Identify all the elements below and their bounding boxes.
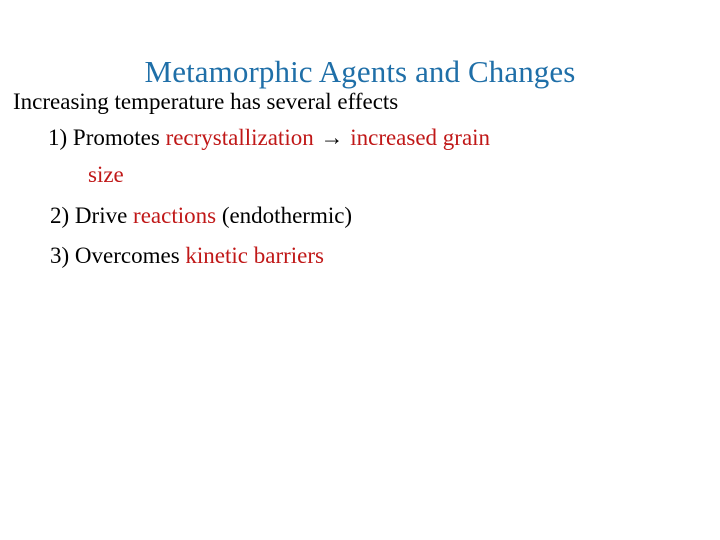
lead-statement: Increasing temperature has several effec…	[13, 88, 713, 116]
list-item: 2) Drive reactions (endothermic)	[13, 197, 713, 235]
list-item: 3) Overcomes kinetic barriers	[13, 237, 713, 275]
slide-body: Increasing temperature has several effec…	[13, 88, 713, 275]
list-item-segment-text: Promotes	[73, 125, 166, 150]
list-item-segment-text: Drive	[75, 203, 133, 228]
list-item-line-wrapped: size	[13, 156, 713, 193]
list-item-marker: 3)	[50, 243, 69, 268]
list-item-segment-text: Overcomes	[75, 243, 186, 268]
list-item-line-primary: 1) Promotes recrystallization → increase…	[13, 119, 713, 156]
list-item-marker: 2)	[50, 203, 69, 228]
effects-list: 1) Promotes recrystallization → increase…	[13, 119, 713, 275]
list-item: 1) Promotes recrystallization → increase…	[13, 119, 713, 193]
page-title: Metamorphic Agents and Changes	[0, 55, 720, 88]
list-item-segment-emphasis: increased grain	[350, 125, 490, 150]
list-item-marker: 1)	[48, 125, 67, 150]
slide-canvas: Metamorphic Agents and Changes Increasin…	[0, 0, 720, 540]
list-item-segment-emphasis: recrystallization	[166, 125, 314, 150]
list-item-segment-emphasis: reactions	[133, 203, 216, 228]
list-item-segment-emphasis: kinetic barriers	[185, 243, 324, 268]
right-arrow-icon: →	[314, 125, 351, 150]
list-item-segment-text: (endothermic)	[216, 203, 352, 228]
